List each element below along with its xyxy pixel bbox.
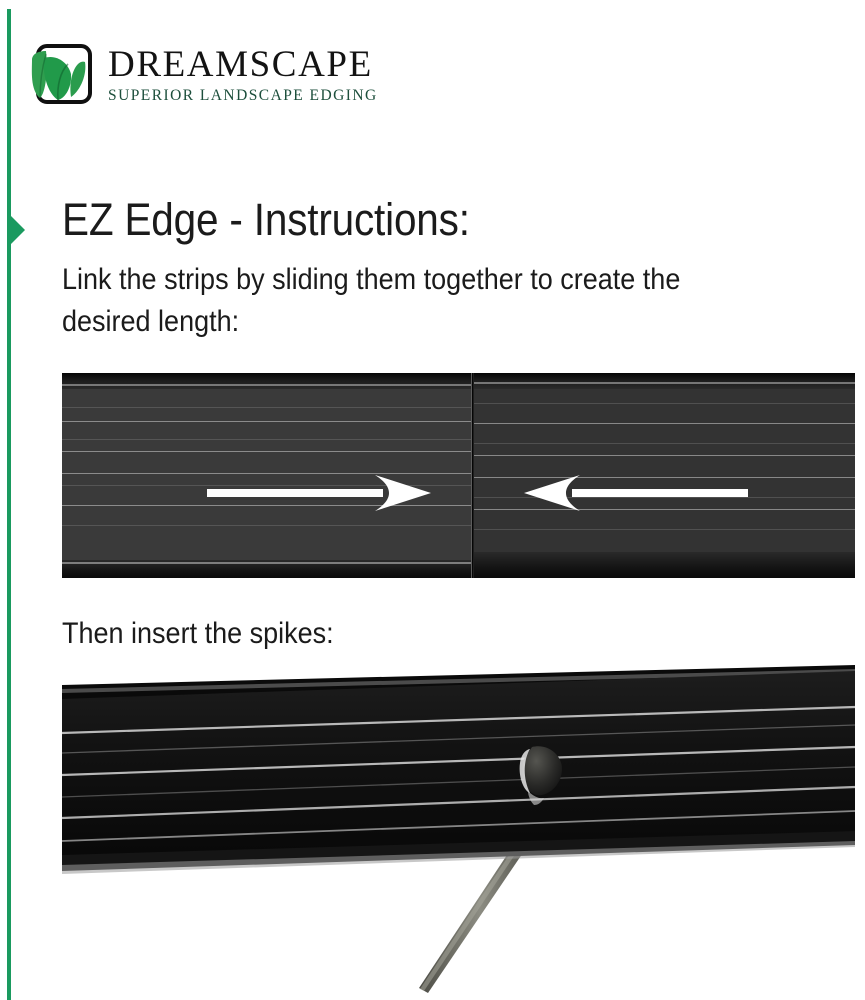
strip-bottom-highlight: [62, 562, 472, 564]
brand-wordmark: DREAMSCAPE SUPERIOR LANDSCAPE EDGING: [108, 45, 378, 104]
page-title: EZ Edge - Instructions:: [62, 196, 773, 245]
right-triangle-marker-icon: [9, 214, 25, 246]
arrow-right-icon: [207, 469, 437, 517]
spike-insertion-photo: [62, 655, 855, 1000]
strip-rib: [472, 403, 855, 404]
step-2-caption: Then insert the spikes:: [62, 617, 334, 651]
strip-rib: [62, 525, 472, 526]
strip-top-bevel: [62, 373, 472, 389]
strip-top-highlight: [472, 382, 855, 384]
step-1-caption: Link the strips by sliding them together…: [62, 259, 773, 344]
instruction-page: DREAMSCAPE SUPERIOR LANDSCAPE EDGING EZ …: [0, 0, 865, 1000]
strip-rib: [472, 423, 855, 424]
strip-bottom-bevel: [472, 552, 855, 578]
strips-joining-photo: [62, 373, 855, 578]
strip-rib: [62, 421, 472, 422]
strip-rib: [472, 443, 855, 444]
arrow-left-icon: [518, 469, 748, 517]
instructions-text-block: EZ Edge - Instructions: Link the strips …: [62, 196, 852, 344]
strip-top-bevel: [472, 373, 855, 389]
strip-rib: [472, 529, 855, 530]
strip-rib: [62, 407, 472, 408]
strip-rib: [62, 451, 472, 452]
strip-rib: [62, 439, 472, 440]
brand-header: DREAMSCAPE SUPERIOR LANDSCAPE EDGING: [28, 40, 378, 110]
strip-top-highlight: [62, 384, 472, 386]
green-accent-rail: [7, 9, 11, 1000]
strip-rib: [472, 455, 855, 456]
strip-seam: [471, 373, 474, 578]
two-leaves-in-rounded-square-icon: [28, 40, 94, 110]
brand-tagline: SUPERIOR LANDSCAPE EDGING: [108, 87, 378, 105]
brand-name: DREAMSCAPE: [108, 47, 378, 83]
